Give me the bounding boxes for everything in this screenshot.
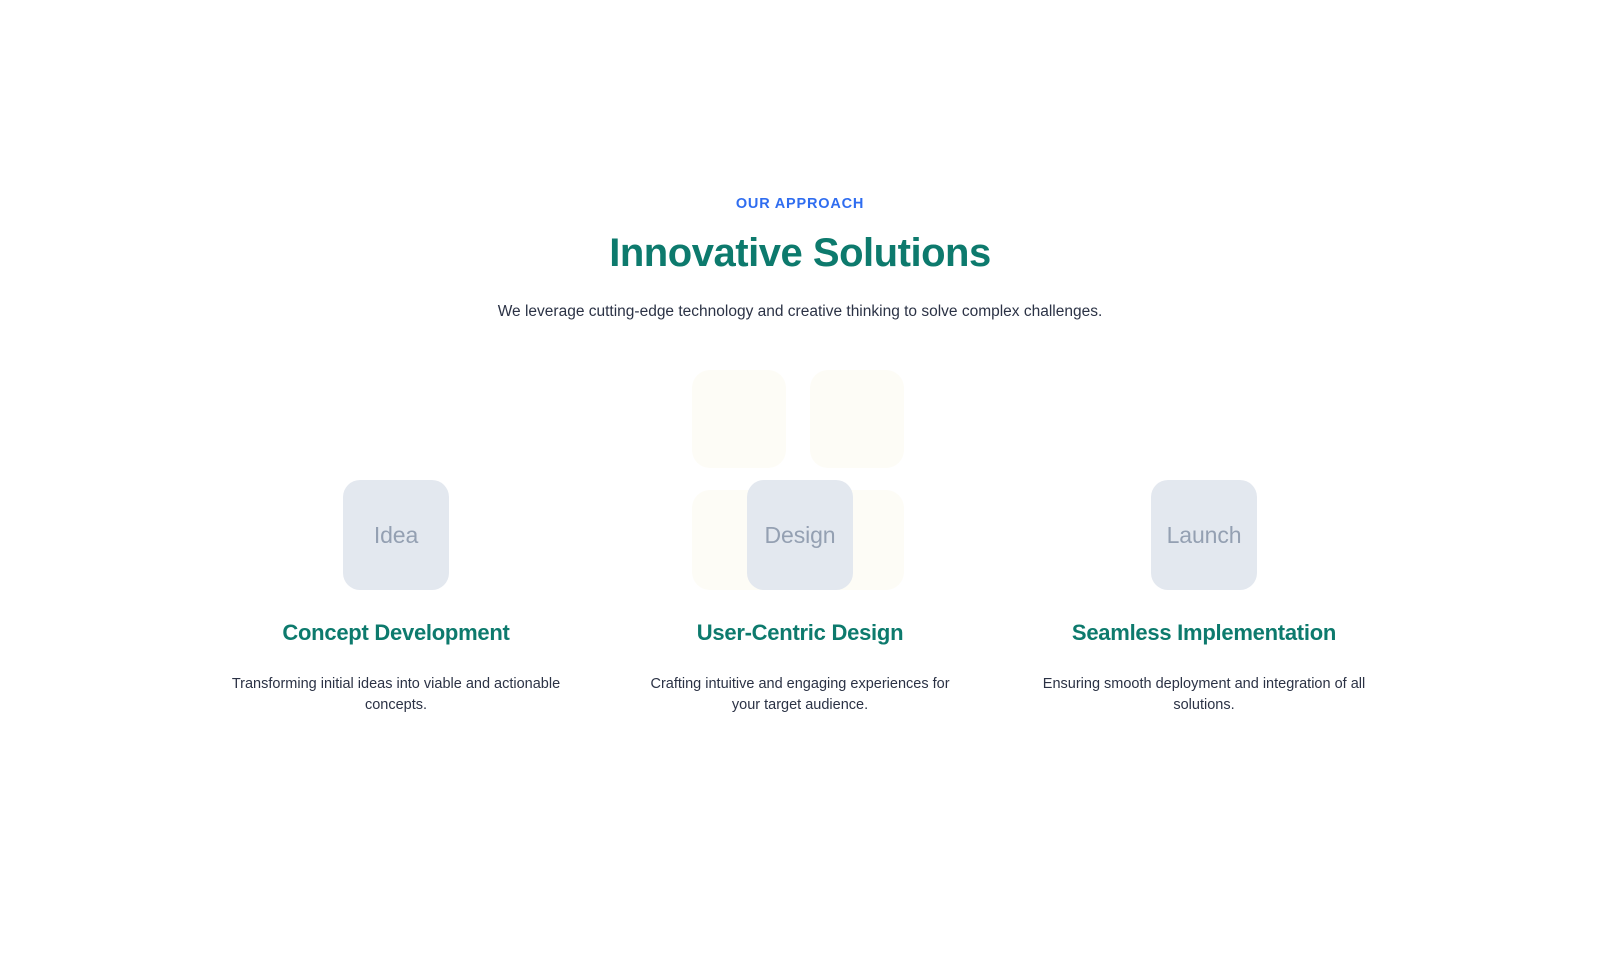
decorative-block-top-right [810, 370, 904, 468]
section-eyebrow: OUR APPROACH [0, 196, 1600, 213]
card-description: Transforming initial ideas into viable a… [231, 674, 561, 716]
section-subtitle: We leverage cutting-edge technology and … [0, 300, 1600, 323]
card-description: Ensuring smooth deployment and integrati… [1039, 674, 1369, 716]
section-header: OUR APPROACH Innovative Solutions We lev… [0, 196, 1600, 324]
placeholder-tile-idea: Idea [343, 480, 449, 590]
approach-card-seamless-implementation[interactable]: Launch Seamless Implementation Ensuring … [1002, 370, 1406, 716]
card-title: Concept Development [282, 620, 509, 646]
placeholder-tile-launch: Launch [1151, 480, 1257, 590]
decorative-block-top-left [692, 370, 786, 468]
card-title: User-Centric Design [697, 620, 904, 646]
placeholder-tile-design: Design [747, 480, 853, 590]
page-title: Innovative Solutions [0, 230, 1600, 276]
card-visual: Idea [194, 370, 598, 603]
card-description: Crafting intuitive and engaging experien… [635, 674, 965, 716]
card-visual: Launch [1002, 370, 1406, 603]
card-visual: Design [598, 370, 1002, 603]
approach-cards-row: Idea Concept Development Transforming in… [0, 370, 1600, 716]
approach-section-page: OUR APPROACH Innovative Solutions We lev… [0, 0, 1600, 978]
approach-card-concept-development[interactable]: Idea Concept Development Transforming in… [194, 370, 598, 716]
tile-label: Launch [1167, 524, 1242, 547]
approach-card-user-centric-design[interactable]: Design User-Centric Design Crafting intu… [598, 370, 1002, 716]
tile-label: Design [765, 524, 836, 547]
tile-label: Idea [374, 524, 418, 547]
card-title: Seamless Implementation [1072, 620, 1336, 646]
